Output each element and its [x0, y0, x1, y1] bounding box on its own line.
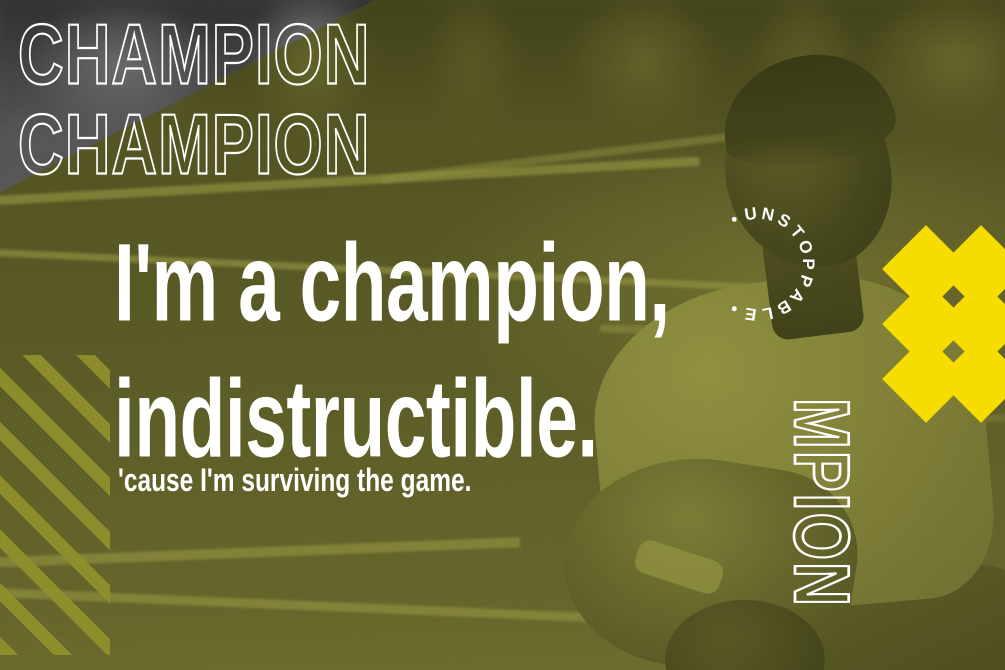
headline-line-1: I'm a champion,: [114, 219, 670, 344]
poster-canvas: CHAMPION CHAMPION I'm a champion, indist…: [0, 0, 1005, 670]
badge-letter: •: [727, 210, 742, 230]
badge-letter: P: [798, 258, 818, 269]
rotated-champion-side-text: MPION: [782, 398, 860, 608]
badge-letter: O: [793, 238, 816, 257]
badge-letter: •: [727, 298, 742, 318]
outlined-champion-line-2: CHAMPION: [18, 92, 370, 200]
subline: 'cause I'm surviving the game.: [118, 463, 471, 499]
badge-letter: E: [744, 303, 758, 324]
badge-letter: L: [761, 302, 775, 324]
headline-line-2: indistructible.: [114, 364, 805, 472]
diagonal-stripes-decoration: [0, 355, 110, 655]
outlined-champion-stack: CHAMPION CHAMPION: [18, 2, 364, 170]
badge-letter: N: [760, 204, 776, 226]
unstoppable-circular-badge: •UNSTOPPABLE•: [694, 200, 822, 328]
diamond-grid-decoration: [895, 238, 1005, 408]
badge-letter: P: [794, 272, 817, 289]
badge-letter: U: [743, 204, 758, 226]
